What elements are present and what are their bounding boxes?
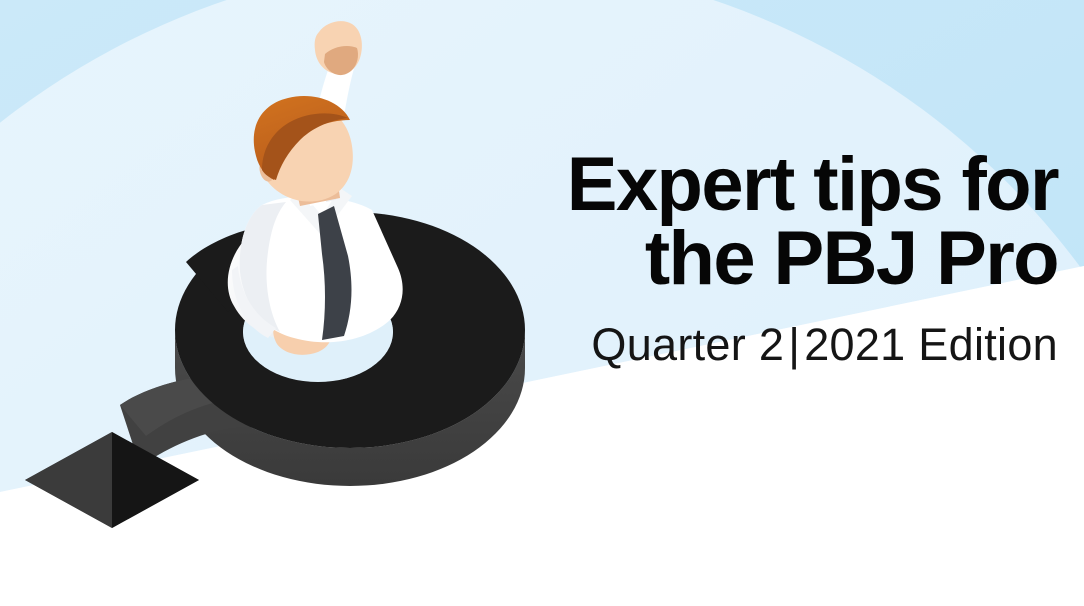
headline-line-2: the PBJ Pro xyxy=(418,222,1058,296)
page-subtitle: Quarter 2|2021 Edition xyxy=(418,319,1058,371)
subtitle-quarter: Quarter 2 xyxy=(591,319,784,370)
character-figure xyxy=(228,21,403,355)
headline-line-1: Expert tips for xyxy=(567,142,1058,227)
poster-canvas: Expert tips for the PBJ Pro Quarter 2|20… xyxy=(0,0,1084,606)
subtitle-separator: | xyxy=(784,319,804,370)
page-title: Expert tips for the PBJ Pro xyxy=(418,148,1058,297)
subtitle-edition: 2021 Edition xyxy=(804,319,1058,370)
text-block: Expert tips for the PBJ Pro Quarter 2|20… xyxy=(418,148,1058,371)
